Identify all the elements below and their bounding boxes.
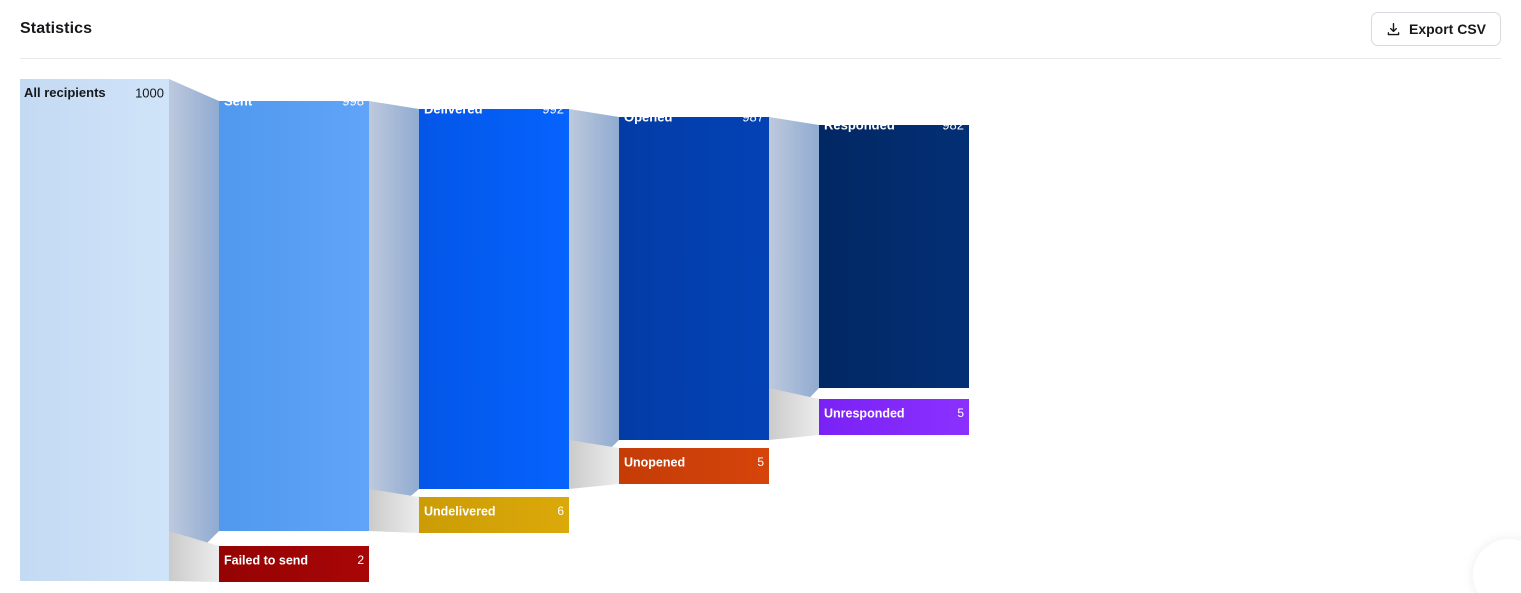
dropoff-label-undelivered: Undelivered [424,504,496,518]
dropoff-label-unresponded: Unresponded [824,406,905,420]
page-title: Statistics [20,20,92,38]
funnel-label-all-recipients: All recipients [24,85,106,100]
dropoff-connector-undelivered [369,489,419,533]
funnel-label-opened: Opened [624,109,672,124]
connector-delivered-to-opened [569,109,619,489]
funnel-dropoff-undelivered[interactable]: Undelivered 6 [419,497,569,533]
funnel-value-delivered: 992 [542,101,564,116]
funnel-stage-sent[interactable]: Sent 998 [219,93,369,531]
funnel-dropoff-unresponded[interactable]: Unresponded 5 [819,399,969,435]
dropoff-connector-unopened [569,440,619,489]
statistics-page: Statistics Export CSV [0,0,1521,593]
dropoff-label-unopened: Unopened [624,455,685,469]
funnel-value-opened: 987 [742,109,764,124]
funnel-label-sent: Sent [224,93,253,108]
funnel-dropoff-failed-to-send[interactable]: Failed to send 2 [219,546,369,582]
export-csv-button[interactable]: Export CSV [1371,12,1501,46]
funnel-bar-responded [819,125,969,388]
funnel-stage-opened[interactable]: Opened 987 [619,109,769,440]
funnel-value-responded: 982 [942,117,964,132]
export-csv-label: Export CSV [1409,21,1486,37]
funnel-value-all-recipients: 1000 [135,85,164,100]
connector-all-recipients-to-sent [169,79,219,581]
funnel-bar-opened [619,117,769,440]
funnel-bar-delivered [419,109,569,489]
funnel-chart: All recipients 1000 Sent 998 Delivered 9… [0,58,1521,593]
funnel-stage-all-recipients[interactable]: All recipients 1000 [20,79,169,581]
funnel-stage-responded[interactable]: Responded 982 [819,117,969,388]
dropoff-connector-failed-to-send [169,531,219,582]
funnel-label-responded: Responded [824,117,895,132]
dropoff-value-undelivered: 6 [557,504,564,518]
funnel-bar-all-recipients [20,79,169,581]
download-icon [1386,22,1401,37]
funnel-label-delivered: Delivered [424,101,483,116]
funnel-dropoff-unopened[interactable]: Unopened 5 [619,448,769,484]
dropoff-value-unopened: 5 [757,455,764,469]
dropoff-value-failed-to-send: 2 [357,553,364,567]
funnel-bar-sent [219,101,369,531]
page-header: Statistics Export CSV [0,0,1521,58]
connector-sent-to-delivered [369,101,419,531]
dropoff-value-unresponded: 5 [957,406,964,420]
funnel-value-sent: 998 [342,93,364,108]
dropoff-label-failed-to-send: Failed to send [224,553,308,567]
funnel-stage-delivered[interactable]: Delivered 992 [419,101,569,489]
